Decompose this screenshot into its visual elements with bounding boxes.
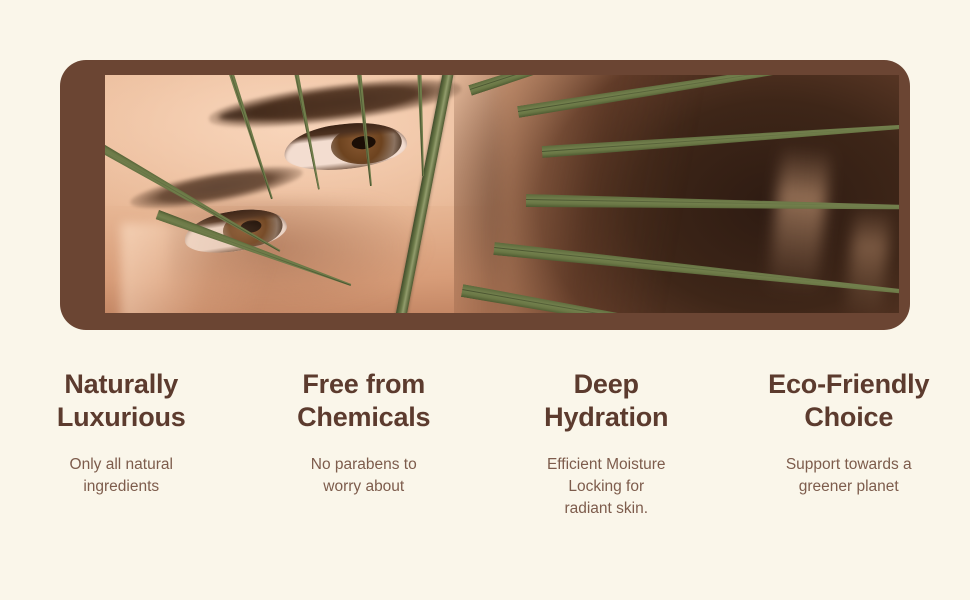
feature-item-naturally-luxurious: Naturally Luxurious Only all natural ing… [0, 368, 243, 520]
feature-item-deep-hydration: Deep Hydration Efficient Moisture Lockin… [485, 368, 728, 520]
feature-title: Eco-Friendly Choice [742, 368, 957, 434]
hair [454, 75, 899, 313]
hair-highlight [767, 144, 831, 296]
hero-image-frame [60, 60, 910, 330]
feature-item-eco-friendly-choice: Eco-Friendly Choice Support towards a gr… [728, 368, 970, 520]
feature-title: Deep Hydration [499, 368, 714, 434]
product-benefits-banner: Naturally Luxurious Only all natural ing… [0, 0, 970, 600]
hero-photo [105, 75, 899, 313]
feature-item-free-from-chemicals: Free from Chemicals No parabens to worry… [243, 368, 486, 520]
feature-list: Naturally Luxurious Only all natural ing… [0, 368, 970, 520]
nose-bridge-highlight [121, 223, 327, 313]
feature-title: Free from Chemicals [257, 368, 472, 434]
feature-description: Efficient Moisture Locking for radiant s… [499, 454, 714, 520]
feature-description: Support towards a greener planet [742, 454, 957, 498]
hair-highlight-secondary [844, 204, 891, 313]
feature-description: No parabens to worry about [257, 454, 472, 498]
feature-title: Naturally Luxurious [14, 368, 229, 434]
feature-description: Only all natural ingredients [14, 454, 229, 498]
